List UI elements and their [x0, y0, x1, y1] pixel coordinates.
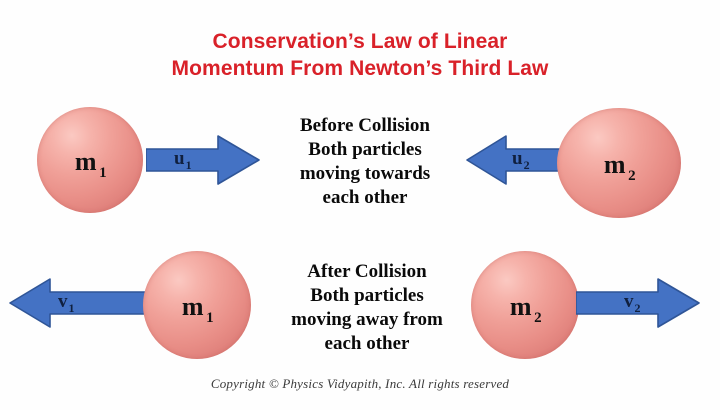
copyright-notice: Copyright © Physics Vidyapith, Inc. All …	[0, 376, 720, 392]
arrow-u2-label: u2	[512, 149, 529, 168]
arrow-u1-right-icon	[146, 134, 260, 186]
caption-after-line-2: Both particles	[252, 284, 482, 308]
ball-m2-after-label: m2	[510, 294, 540, 320]
caption-after-line-1: After Collision	[252, 260, 482, 284]
ball-m2-before-label: m2	[604, 152, 634, 178]
ball-m2-after: m2	[471, 251, 579, 359]
arrow-u1-right: u1	[146, 134, 260, 186]
title-line-1: Conservation’s Law of Linear	[0, 28, 720, 55]
caption-before-line-3: moving towards	[250, 162, 480, 186]
arrow-v1-label: v1	[58, 292, 74, 311]
arrow-v1-left-icon	[9, 277, 149, 329]
arrow-v1-left: v1	[9, 277, 149, 329]
arrow-u1-label: u1	[174, 149, 191, 168]
ball-m1-after: m1	[143, 251, 251, 359]
ball-m1-before: m1	[37, 107, 143, 213]
caption-after-line-4: each other	[252, 332, 482, 356]
ball-m1-after-label: m1	[182, 294, 212, 320]
caption-before-line-2: Both particles	[250, 138, 480, 162]
ball-m2-before: m2	[557, 108, 681, 218]
title-line-2: Momentum From Newton’s Third Law	[0, 55, 720, 82]
caption-before-line-4: each other	[250, 186, 480, 210]
caption-before-line-1: Before Collision	[250, 114, 480, 138]
page-title: Conservation’s Law of Linear Momentum Fr…	[0, 28, 720, 82]
caption-before-collision: Before Collision Both particles moving t…	[250, 114, 480, 210]
ball-m1-before-label: m1	[75, 149, 105, 175]
diagram-canvas: Conservation’s Law of Linear Momentum Fr…	[0, 0, 720, 410]
caption-after-collision: After Collision Both particles moving aw…	[252, 260, 482, 356]
arrow-v2-right: v2	[576, 277, 700, 329]
arrow-u2-left: u2	[466, 134, 561, 186]
caption-after-line-3: moving away from	[252, 308, 482, 332]
arrow-v2-label: v2	[624, 292, 640, 311]
